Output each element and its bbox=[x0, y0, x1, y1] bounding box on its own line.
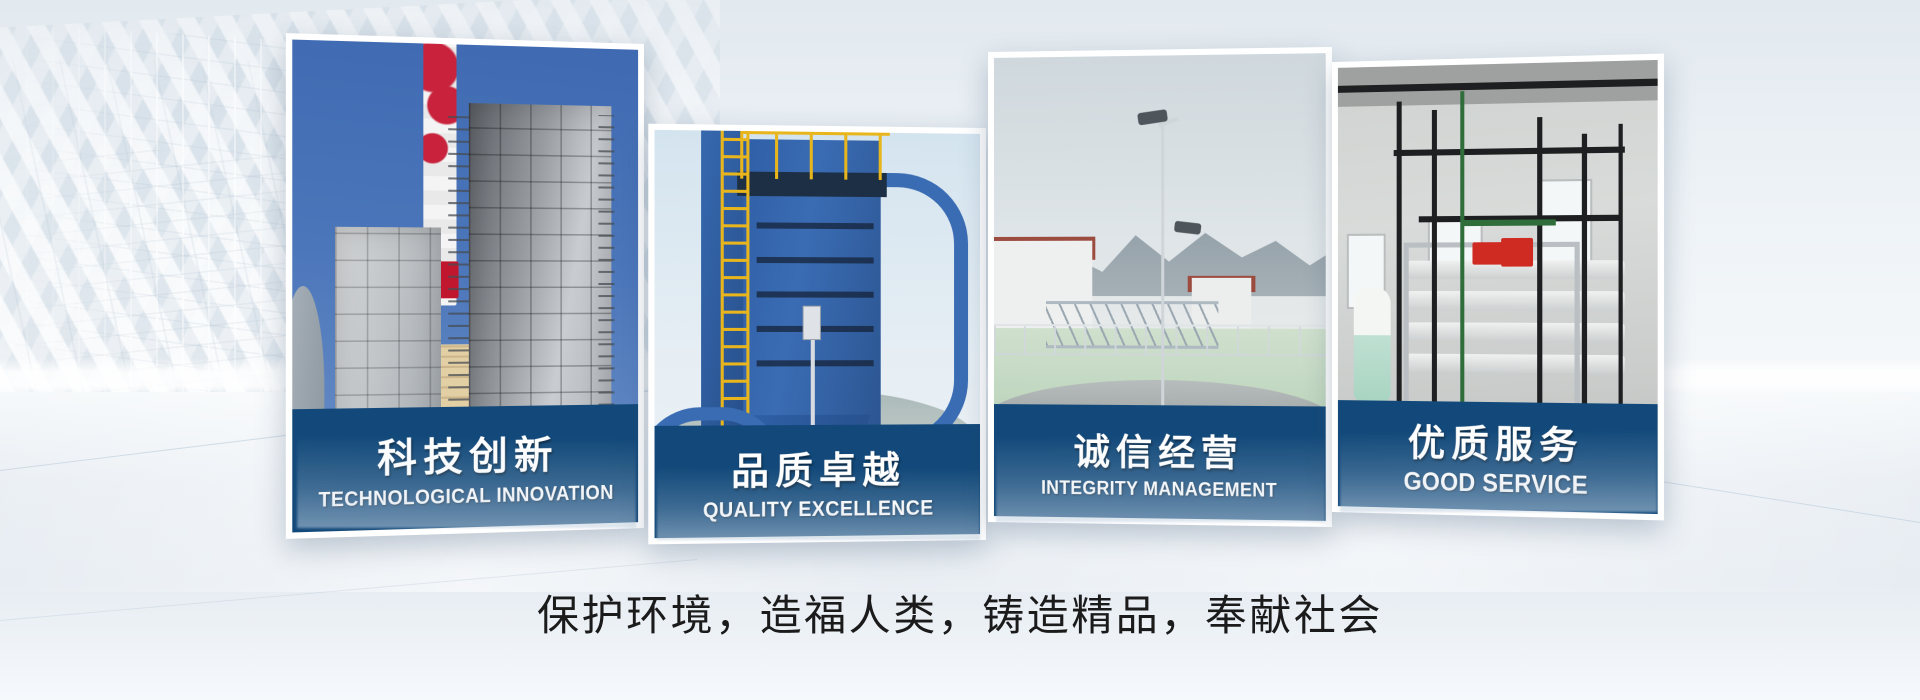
caption-title-cn: 优质服务 bbox=[1408, 412, 1584, 470]
panel-technological-innovation[interactable]: 科技创新 TECHNOLOGICAL INNOVATION bbox=[286, 33, 644, 539]
caption-integrity-management: 诚信经营 INTEGRITY MANAGEMENT bbox=[994, 404, 1326, 521]
panel-quality-excellence[interactable]: 品质卓越 QUALITY EXCELLENCE bbox=[648, 124, 986, 545]
caption-quality-excellence: 品质卓越 QUALITY EXCELLENCE bbox=[655, 424, 981, 538]
tagline: 保护环境，造福人类，铸造精品，奉献社会 bbox=[0, 582, 1920, 643]
caption-title-en: INTEGRITY MANAGEMENT bbox=[1041, 477, 1277, 502]
caption-title-en: GOOD SERVICE bbox=[1404, 467, 1588, 501]
caption-title-en: QUALITY EXCELLENCE bbox=[703, 496, 934, 523]
caption-title-cn: 品质卓越 bbox=[731, 439, 906, 495]
panel-good-service[interactable]: 优质服务 GOOD SERVICE bbox=[1332, 54, 1664, 521]
caption-title-cn: 诚信经营 bbox=[1074, 422, 1244, 476]
caption-title-en: TECHNOLOGICAL INNOVATION bbox=[319, 482, 614, 513]
caption-good-service: 优质服务 GOOD SERVICE bbox=[1338, 400, 1658, 514]
caption-title-cn: 科技创新 bbox=[377, 423, 558, 483]
caption-technological-innovation: 科技创新 TECHNOLOGICAL INNOVATION bbox=[292, 404, 638, 532]
panel-integrity-management[interactable]: 诚信经营 INTEGRITY MANAGEMENT bbox=[988, 47, 1332, 527]
banner-stage: 科技创新 TECHNOLOGICAL INNOVATION bbox=[0, 0, 1920, 700]
